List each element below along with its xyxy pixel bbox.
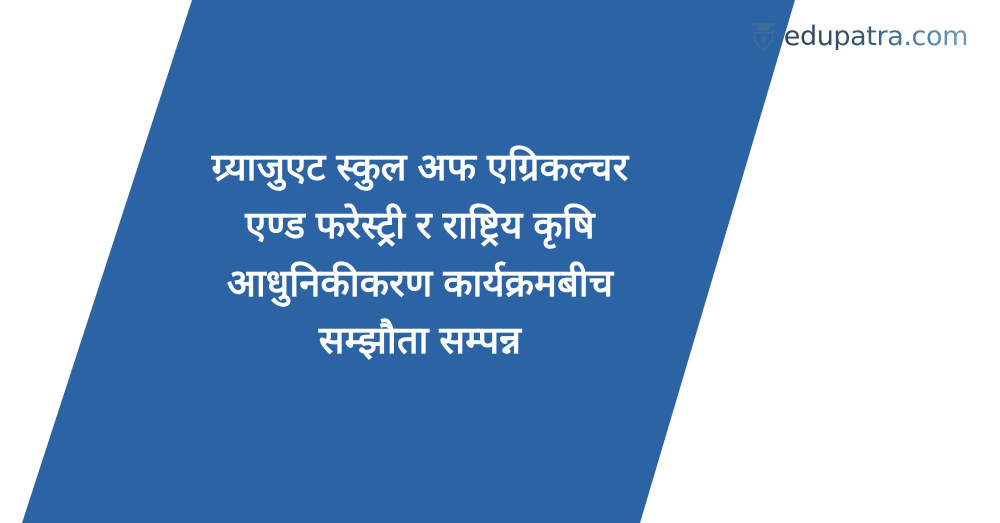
headline-line-2: एण्ड फरेस्ट्री र राष्ट्रिय कृषि xyxy=(120,198,720,256)
graduation-cap-pen-nib-icon xyxy=(750,20,777,53)
headline-text-block: ग्र्याजुएट स्कुल अफ एग्रिकल्चर एण्ड फरेस… xyxy=(120,140,720,371)
news-banner: ग्र्याजुएट स्कुल अफ एग्रिकल्चर एण्ड फरेस… xyxy=(0,0,1000,523)
logo-wordmark: edupatra.com xyxy=(784,23,968,50)
headline-line-3: आधुनिकीकरण कार्यक्रमबीच xyxy=(120,256,720,314)
site-logo[interactable]: edupatra.com xyxy=(750,20,968,53)
headline-line-1: ग्र्याजुएट स्कुल अफ एग्रिकल्चर xyxy=(120,140,720,198)
headline-line-4: सम्झौता सम्पन्न xyxy=(120,313,720,371)
